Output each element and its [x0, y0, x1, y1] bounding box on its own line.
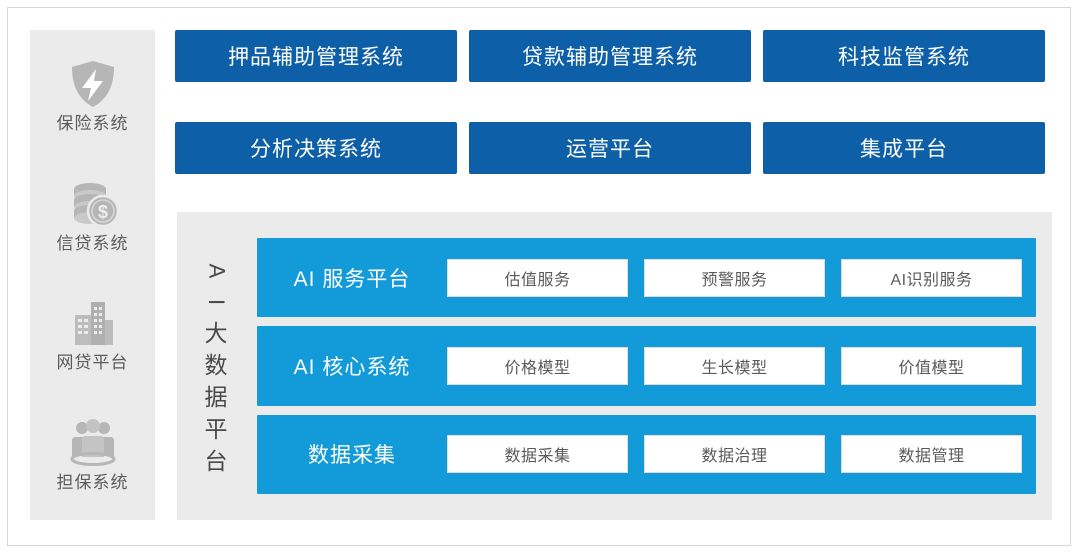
ai-cell-data-governance[interactable]: 数据治理	[644, 435, 825, 473]
ai-row-cells: 数据采集 数据治理 数据管理	[447, 435, 1036, 473]
vertical-char: 平	[205, 418, 228, 441]
system-bar-analysis-decision[interactable]: 分析决策系统	[175, 122, 457, 174]
system-bar-loan-management[interactable]: 贷款辅助管理系统	[469, 30, 751, 82]
ai-cell-data-management[interactable]: 数据管理	[841, 435, 1022, 473]
buildings-icon	[66, 298, 120, 348]
svg-text:$: $	[97, 202, 107, 222]
ai-cell-growth-model[interactable]: 生长模型	[644, 347, 825, 385]
sidebar-item-label: 担保系统	[57, 474, 129, 491]
sidebar-item-online-lending[interactable]: 网贷平台	[30, 298, 155, 371]
ai-row-cells: 估值服务 预警服务 AI识别服务	[447, 259, 1036, 297]
ai-row-data-collection: 数据采集 数据采集 数据治理 数据管理	[257, 415, 1036, 494]
ai-cell-value-model[interactable]: 价值模型	[841, 347, 1022, 385]
diagram-canvas: 保险系统 $ 信贷系统	[0, 0, 1080, 554]
vertical-char: I	[205, 298, 227, 304]
vertical-char: 据	[205, 386, 228, 409]
ai-cell-price-model[interactable]: 价格模型	[447, 347, 628, 385]
ai-cell-ai-recognition-service[interactable]: AI识别服务	[841, 259, 1022, 297]
ai-cell-data-collection[interactable]: 数据采集	[447, 435, 628, 473]
ai-row-service-platform: AI 服务平台 估值服务 预警服务 AI识别服务	[257, 238, 1036, 317]
sidebar-item-guarantee[interactable]: 担保系统	[30, 418, 155, 491]
sidebar-item-credit[interactable]: $ 信贷系统	[30, 179, 155, 252]
ai-row-label: AI 服务平台	[257, 263, 447, 293]
sidebar-item-label: 网贷平台	[57, 354, 129, 371]
ai-row-cells: 价格模型 生长模型 价值模型	[447, 347, 1036, 385]
shield-bolt-icon	[66, 59, 120, 109]
system-bar-operations-platform[interactable]: 运营平台	[469, 122, 751, 174]
vertical-char: 数	[205, 354, 228, 377]
ai-row-core-system: AI 核心系统 价格模型 生长模型 价值模型	[257, 326, 1036, 405]
ai-platform-rows: AI 服务平台 估值服务 预警服务 AI识别服务 AI 核心系统 价格模型 生长…	[257, 238, 1036, 494]
sidebar-item-label: 信贷系统	[57, 235, 129, 252]
ai-row-label: 数据采集	[257, 439, 447, 469]
top-systems-row-2: 分析决策系统 运营平台 集成平台	[175, 122, 1045, 174]
ai-row-label: AI 核心系统	[257, 351, 447, 381]
vertical-char: A	[205, 263, 227, 278]
coins-dollar-icon: $	[66, 179, 120, 229]
ai-cell-alert-service[interactable]: 预警服务	[644, 259, 825, 297]
vertical-char: 大	[205, 322, 228, 345]
people-group-icon	[66, 418, 120, 468]
vertical-char: 台	[205, 450, 228, 473]
sidebar-item-insurance[interactable]: 保险系统	[30, 59, 155, 132]
ai-platform-vertical-label: A I 大 数 据 平 台	[177, 220, 255, 512]
ai-cell-valuation-service[interactable]: 估值服务	[447, 259, 628, 297]
ai-bigdata-platform-panel: A I 大 数 据 平 台 AI 服务平台 估值服务 预警服务 AI识别服务 A…	[177, 212, 1052, 520]
sidebar-systems-panel: 保险系统 $ 信贷系统	[30, 30, 155, 520]
system-bar-collateral-management[interactable]: 押品辅助管理系统	[175, 30, 457, 82]
system-bar-tech-supervision[interactable]: 科技监管系统	[763, 30, 1045, 82]
system-bar-integration-platform[interactable]: 集成平台	[763, 122, 1045, 174]
top-systems-row-1: 押品辅助管理系统 贷款辅助管理系统 科技监管系统	[175, 30, 1045, 82]
sidebar-item-label: 保险系统	[57, 115, 129, 132]
